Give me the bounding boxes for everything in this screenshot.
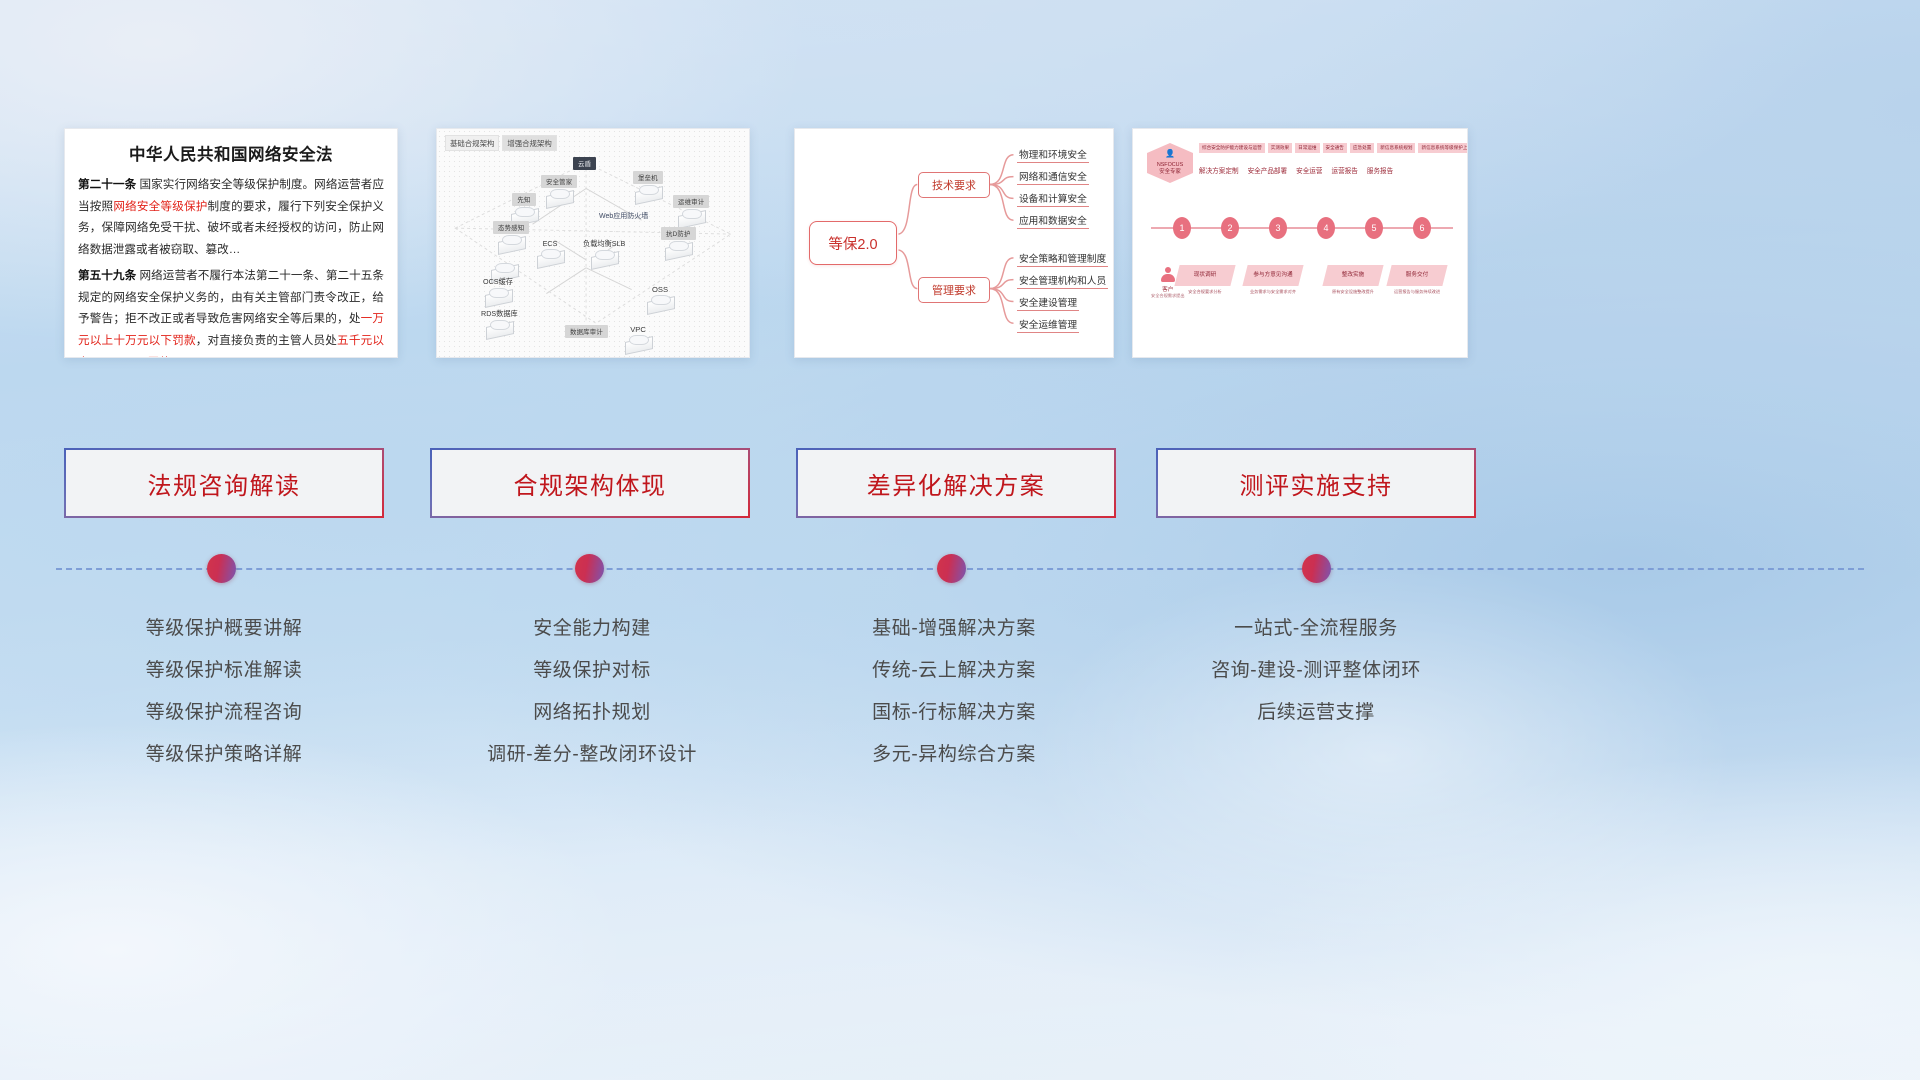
timeline-dot-3 bbox=[937, 554, 966, 583]
bullet-1-3: 等级保护策略详解 bbox=[44, 734, 404, 776]
bullet-2-2: 网络拓扑规划 bbox=[412, 692, 772, 734]
mindmap-leaf-org-personnel: 安全管理机构和人员 bbox=[1017, 273, 1108, 289]
nsfocus-cap-3: 运营报告 bbox=[1332, 165, 1358, 175]
netdiag-node-rds: RDS数据库 bbox=[481, 309, 518, 336]
bullet-4-1: 咨询-建设-测评整体闭环 bbox=[1136, 650, 1496, 692]
netdiag-node-situational-awareness: 态势感知 bbox=[493, 221, 529, 251]
nsfocus-tag-5: 新信息系统规划 bbox=[1377, 143, 1415, 153]
card-mindmap-dengbao: 等保2.0 技术要求 管理要求 物理和环境安全 网络和通信安全 设备和计算安全 … bbox=[794, 128, 1114, 358]
timeline-dot-1 bbox=[207, 554, 236, 583]
mindmap-root: 等保2.0 bbox=[809, 221, 897, 265]
user-icon: 👤 bbox=[1165, 149, 1175, 160]
netdiag-node-security-butler: 安全管家 bbox=[541, 175, 577, 205]
netdiag-tab-enhanced[interactable]: 增强合规架构 bbox=[502, 135, 556, 151]
nsfocus-brand-hex: 👤 NSFOCUS 安全专家 bbox=[1147, 143, 1193, 183]
netdiag-node-ecs-group bbox=[491, 251, 517, 279]
netdiag-node-xianzhi: 先知 bbox=[511, 193, 537, 223]
law-article-21: 第二十一条 国家实行网络安全等级保护制度。网络运营者应当按照网络安全等级保护制度… bbox=[78, 174, 384, 260]
netdiag-node-ops-audit: 运维审计 bbox=[673, 195, 709, 225]
nsfocus-customer-sub: 安全合规需求提出 bbox=[1151, 293, 1185, 299]
bullet-3-1: 传统-云上解决方案 bbox=[774, 650, 1134, 692]
mindmap-leaf-device-compute: 设备和计算安全 bbox=[1017, 191, 1089, 207]
bullet-3-3: 多元-异构综合方案 bbox=[774, 734, 1134, 776]
card-cybersecurity-law: 中华人民共和国网络安全法 第二十一条 国家实行网络安全等级保护制度。网络运营者应… bbox=[64, 128, 398, 358]
pillar-title-box-4[interactable]: 测评实施支持 bbox=[1156, 448, 1476, 518]
nsfocus-customer: 客户 安全合规需求提出 bbox=[1151, 267, 1185, 299]
pillar-title-3: 差异化解决方案 bbox=[867, 466, 1046, 501]
nsfocus-capabilities: 解决方案定制 安全产品部署 安全运营 运营报告 服务报告 bbox=[1199, 165, 1393, 175]
nsfocus-para-title-1: 参与方意见沟通 bbox=[1245, 270, 1301, 278]
law-article-21-highlight: 网络安全等级保护 bbox=[113, 200, 207, 213]
pillar-bullets-1: 等级保护概要讲解 等级保护标准解读 等级保护流程咨询 等级保护策略详解 bbox=[44, 608, 404, 776]
nsfocus-para-sub-3: 运营报告与服务持续改进 bbox=[1382, 289, 1452, 295]
nsfocus-brand-line2: 安全专家 bbox=[1159, 169, 1181, 176]
nsfocus-step-1: 1 bbox=[1173, 217, 1191, 239]
nsfocus-axis bbox=[1151, 227, 1453, 229]
nsfocus-step-5: 5 bbox=[1365, 217, 1383, 239]
mindmap-branch-technical: 技术要求 bbox=[918, 172, 990, 198]
bullet-2-3: 调研-差分-整改闭环设计 bbox=[412, 734, 772, 776]
pillar-bullets-3: 基础-增强解决方案 传统-云上解决方案 国标-行标解决方案 多元-异构综合方案 bbox=[774, 608, 1134, 776]
mindmap-branch-management: 管理要求 bbox=[918, 277, 990, 303]
nsfocus-cap-0: 解决方案定制 bbox=[1199, 165, 1239, 175]
nsfocus-para-title-3: 服务交付 bbox=[1389, 270, 1445, 278]
netdiag-node-waf: Web应用防火墙 bbox=[599, 211, 648, 221]
bullet-1-0: 等级保护概要讲解 bbox=[44, 608, 404, 650]
nsfocus-tag-0: 综合安全防护能力建设与运营 bbox=[1199, 143, 1265, 153]
netdiag-tab-basic[interactable]: 基础合规架构 bbox=[445, 135, 499, 151]
pillar-bullets-2: 安全能力构建 等级保护对标 网络拓扑规划 调研-差分-整改闭环设计 bbox=[412, 608, 772, 776]
nsfocus-tag-3: 安全通告 bbox=[1323, 143, 1347, 153]
pillar-title-1: 法规咨询解读 bbox=[148, 466, 301, 501]
nsfocus-tag-1: 实测效果 bbox=[1268, 143, 1292, 153]
mindmap: 等保2.0 技术要求 管理要求 物理和环境安全 网络和通信安全 设备和计算安全 … bbox=[795, 129, 1113, 357]
card-nsfocus-service-flow: 👤 NSFOCUS 安全专家 综合安全防护能力建设与运营 实测效果 日常运维 安… bbox=[1132, 128, 1468, 358]
nsfocus-graphic: 👤 NSFOCUS 安全专家 综合安全防护能力建设与运营 实测效果 日常运维 安… bbox=[1133, 129, 1467, 357]
netdiag-node-vpc: VPC bbox=[625, 325, 651, 351]
pillar-title-box-1[interactable]: 法规咨询解读 bbox=[64, 448, 384, 518]
nsfocus-para-title-2: 整改实施 bbox=[1325, 270, 1381, 278]
netdiag-node-bastion-host: 堡垒机 bbox=[633, 171, 663, 201]
law-article-21-label: 第二十一条 bbox=[78, 178, 136, 191]
card-compliance-architecture: 基础合规架构 增强合规架构 bbox=[436, 128, 750, 358]
nsfocus-tag-2: 日常运维 bbox=[1295, 143, 1319, 153]
network-diagram: 基础合规架构 增强合规架构 bbox=[437, 129, 749, 357]
mindmap-leaf-physical-env: 物理和环境安全 bbox=[1017, 147, 1089, 163]
law-article-59: 第五十九条 网络运营者不履行本法第二十一条、第二十五条规定的网络安全保护义务的，… bbox=[78, 265, 384, 358]
netdiag-node-anti-ddos: 抗D防护 bbox=[661, 227, 696, 257]
pillar-title-box-2[interactable]: 合规架构体现 bbox=[430, 448, 750, 518]
timeline-dot-2 bbox=[575, 554, 604, 583]
customer-icon bbox=[1160, 267, 1176, 283]
nsfocus-tag-4: 应急处置 bbox=[1350, 143, 1374, 153]
bullet-3-0: 基础-增强解决方案 bbox=[774, 608, 1134, 650]
nsfocus-para-sub-2: 原有安全设施整改提升 bbox=[1318, 289, 1388, 295]
timeline-dot-4 bbox=[1302, 554, 1331, 583]
nsfocus-para-title-0: 现状调研 bbox=[1177, 270, 1233, 278]
pillar-title-4: 测评实施支持 bbox=[1240, 466, 1393, 501]
mindmap-leaf-network-comm: 网络和通信安全 bbox=[1017, 169, 1089, 185]
netdiag-node-oss: OSS bbox=[647, 285, 673, 311]
pillar-title-2: 合规架构体现 bbox=[514, 466, 667, 501]
law-title: 中华人民共和国网络安全法 bbox=[78, 141, 384, 165]
netdiag-node-cloudshield: 云盾 bbox=[573, 157, 596, 170]
law-article-59-mid: ，对直接负责的主管人员处 bbox=[196, 334, 337, 347]
nsfocus-step-4: 4 bbox=[1317, 217, 1335, 239]
netdiag-tabs: 基础合规架构 增强合规架构 bbox=[445, 135, 557, 151]
nsfocus-cap-2: 安全运营 bbox=[1296, 165, 1322, 175]
mindmap-leaf-policy-system: 安全策略和管理制度 bbox=[1017, 251, 1108, 267]
bullet-4-0: 一站式-全流程服务 bbox=[1136, 608, 1496, 650]
nsfocus-step-2: 2 bbox=[1221, 217, 1239, 239]
mindmap-leaf-build-mgmt: 安全建设管理 bbox=[1017, 295, 1079, 311]
nsfocus-para-sub-1: 业务需求与安全需求对齐 bbox=[1238, 289, 1308, 295]
netdiag-node-slb: 负载均衡SLB bbox=[583, 239, 625, 266]
bullet-1-1: 等级保护标准解读 bbox=[44, 650, 404, 692]
nsfocus-top-tags: 综合安全防护能力建设与运营 实测效果 日常运维 安全通告 应急处置 新信息系统规… bbox=[1199, 143, 1468, 153]
netdiag-node-ecs: ECS bbox=[537, 239, 563, 265]
nsfocus-step-6: 6 bbox=[1413, 217, 1431, 239]
bullet-1-2: 等级保护流程咨询 bbox=[44, 692, 404, 734]
pillar-bullets-4: 一站式-全流程服务 咨询-建设-测评整体闭环 后续运营支撑 bbox=[1136, 608, 1496, 734]
bullet-3-2: 国标-行标解决方案 bbox=[774, 692, 1134, 734]
nsfocus-step-3: 3 bbox=[1269, 217, 1287, 239]
netdiag-node-ocs: OCS缓存 bbox=[483, 277, 513, 304]
nsfocus-cap-4: 服务报告 bbox=[1367, 165, 1393, 175]
pillar-title-box-3[interactable]: 差异化解决方案 bbox=[796, 448, 1116, 518]
law-article-59-label: 第五十九条 bbox=[78, 269, 136, 282]
mindmap-leaf-app-data: 应用和数据安全 bbox=[1017, 213, 1089, 229]
bullet-2-1: 等级保护对标 bbox=[412, 650, 772, 692]
nsfocus-tag-6: 新信息系统等级保护上线安全测评与整改 bbox=[1418, 143, 1468, 153]
netdiag-node-db-audit: 数据库审计 bbox=[565, 325, 608, 338]
bullet-2-0: 安全能力构建 bbox=[412, 608, 772, 650]
nsfocus-cap-1: 安全产品部署 bbox=[1248, 165, 1288, 175]
mindmap-leaf-ops-mgmt: 安全运维管理 bbox=[1017, 317, 1079, 333]
bullet-4-2: 后续运营支撑 bbox=[1136, 692, 1496, 734]
nsfocus-customer-label: 客户 bbox=[1151, 285, 1185, 293]
